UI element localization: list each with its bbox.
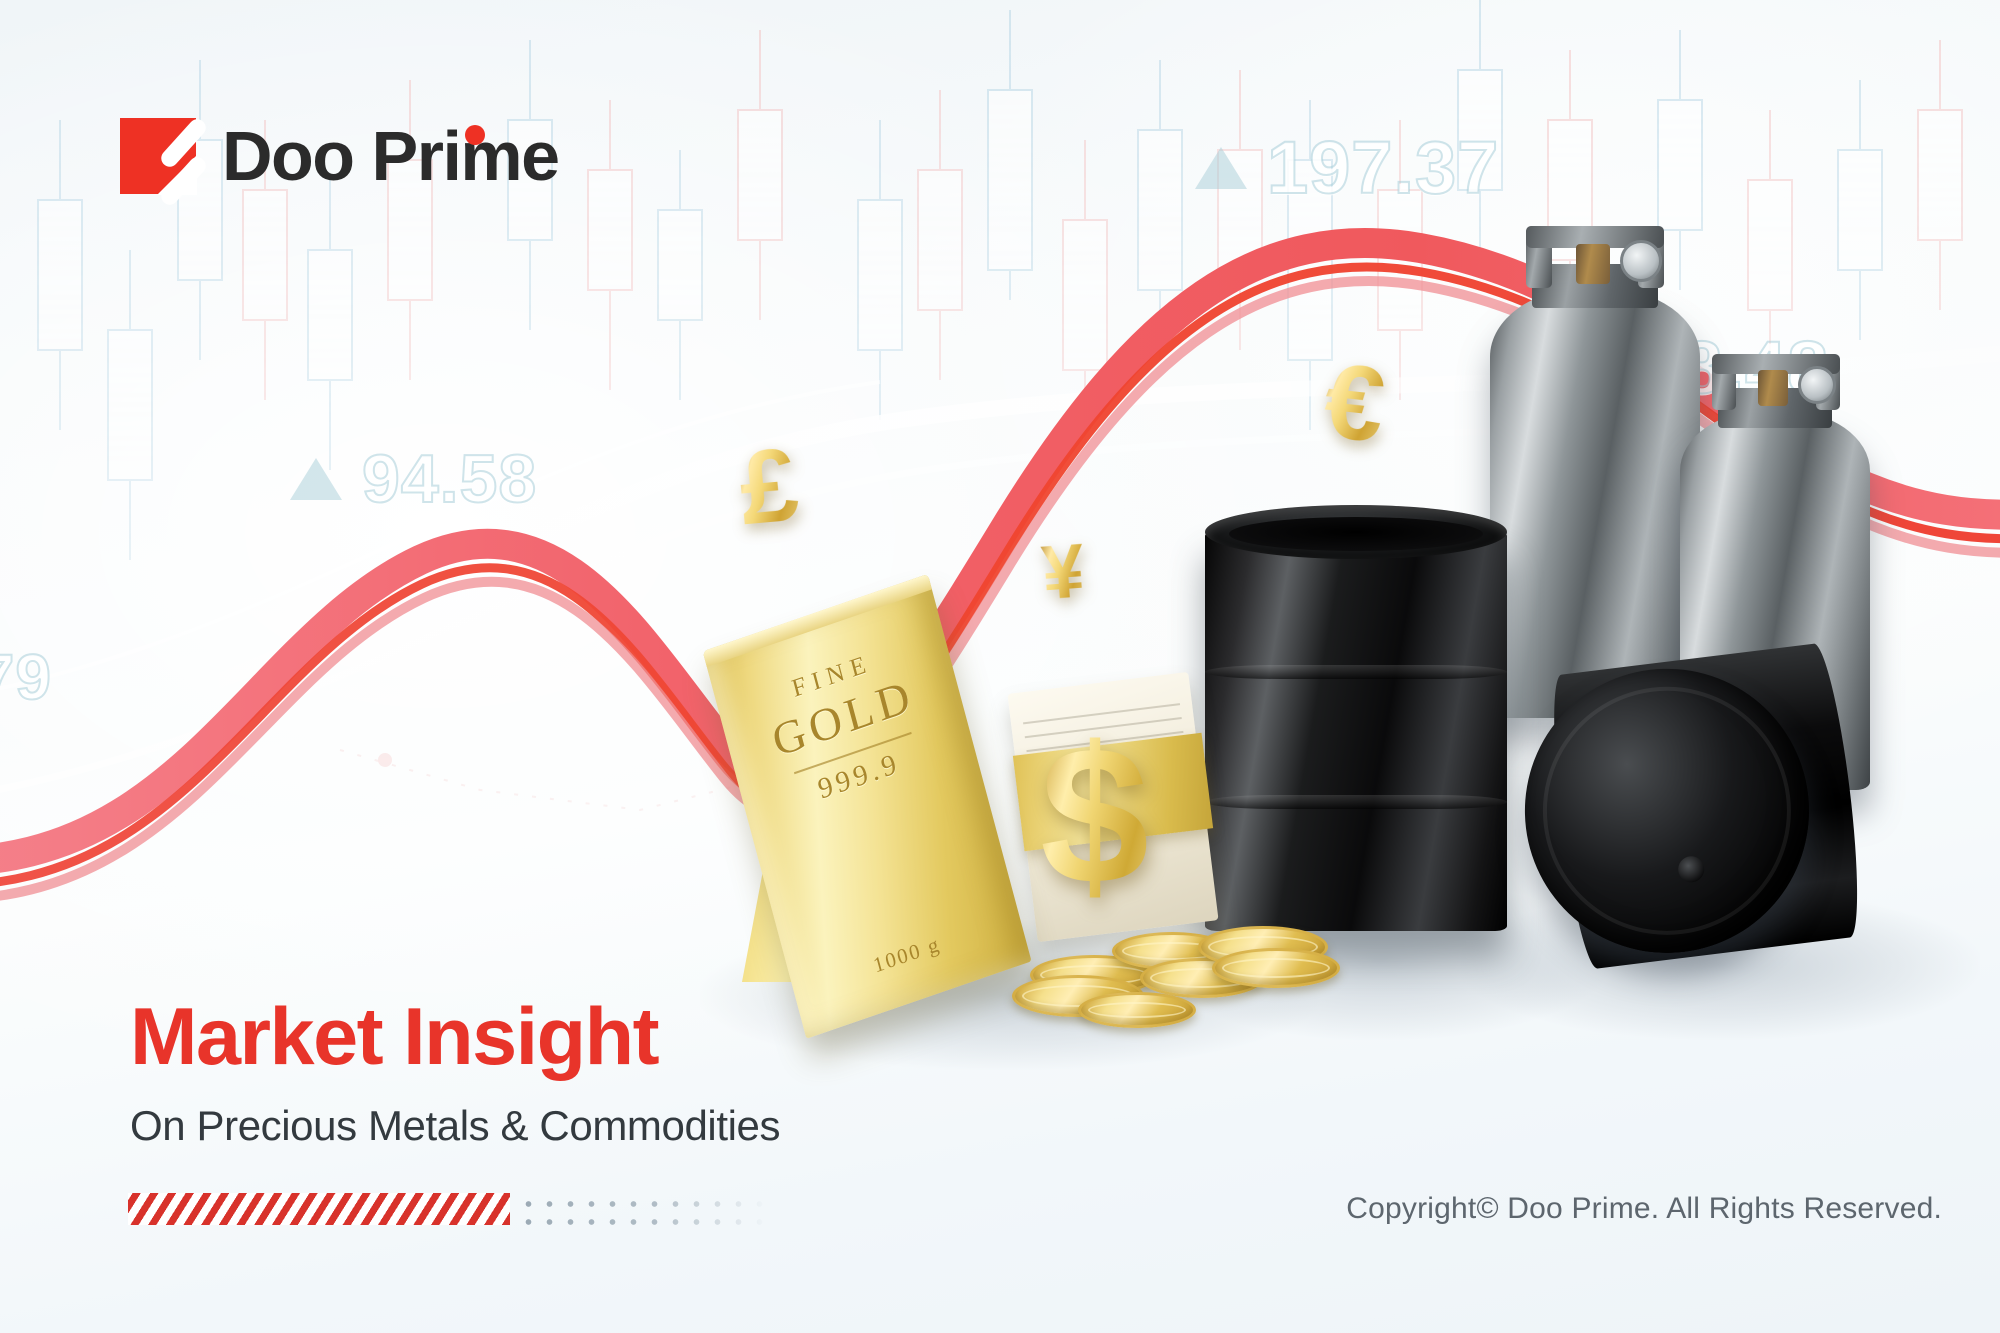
cylinder-gauge bbox=[1620, 240, 1662, 282]
stripe-bar bbox=[128, 1193, 510, 1225]
gold-bar-weight-label: 1000 g bbox=[791, 904, 1023, 1006]
coin-rim bbox=[1222, 958, 1330, 978]
brand-name: Doo Prime bbox=[222, 121, 559, 191]
market-insight-banner: 197.37 94.58 148.48 .79 bbox=[0, 0, 2000, 1333]
drum-rib bbox=[1205, 665, 1507, 679]
drum-body bbox=[1205, 531, 1507, 931]
gold-coin bbox=[1078, 992, 1196, 1028]
pound-symbol: £ bbox=[736, 433, 803, 542]
oil-drum-upright bbox=[1205, 505, 1507, 950]
drum-rib bbox=[1205, 795, 1507, 809]
brand-name-text: Doo Prime bbox=[222, 117, 559, 195]
gold-coin bbox=[1212, 948, 1340, 988]
oil-drum-tilted bbox=[1508, 641, 1872, 979]
cylinder-valve bbox=[1758, 370, 1788, 406]
euro-symbol: € bbox=[1320, 347, 1390, 459]
cylinder-valve bbox=[1576, 244, 1610, 284]
gold-bar-engraving: FINE GOLD 999.9 bbox=[716, 624, 976, 831]
copyright-notice: Copyright© Doo Prime. All Rights Reserve… bbox=[1346, 1192, 1942, 1226]
dot-grid bbox=[518, 1192, 768, 1226]
dollar-symbol: $ bbox=[1040, 718, 1149, 914]
cylinder-tank bbox=[1490, 288, 1700, 718]
cylinder-gauge bbox=[1798, 366, 1836, 404]
headline-block: Market Insight On Precious Metals & Comm… bbox=[130, 995, 780, 1150]
drum-face-rim bbox=[1529, 673, 1805, 949]
coin-rim bbox=[1088, 1002, 1186, 1018]
gas-cylinder-back bbox=[1490, 218, 1700, 718]
logo-red-dot bbox=[465, 125, 485, 145]
decorative-bar bbox=[128, 1192, 768, 1226]
page-subtitle: On Precious Metals & Commodities bbox=[130, 1102, 780, 1150]
yen-symbol: ¥ bbox=[1039, 534, 1086, 613]
drum-opening bbox=[1229, 517, 1483, 551]
doo-prime-mark-icon bbox=[120, 118, 196, 194]
page-title: Market Insight bbox=[130, 995, 780, 1080]
brand-logo[interactable]: Doo Prime bbox=[120, 118, 559, 194]
